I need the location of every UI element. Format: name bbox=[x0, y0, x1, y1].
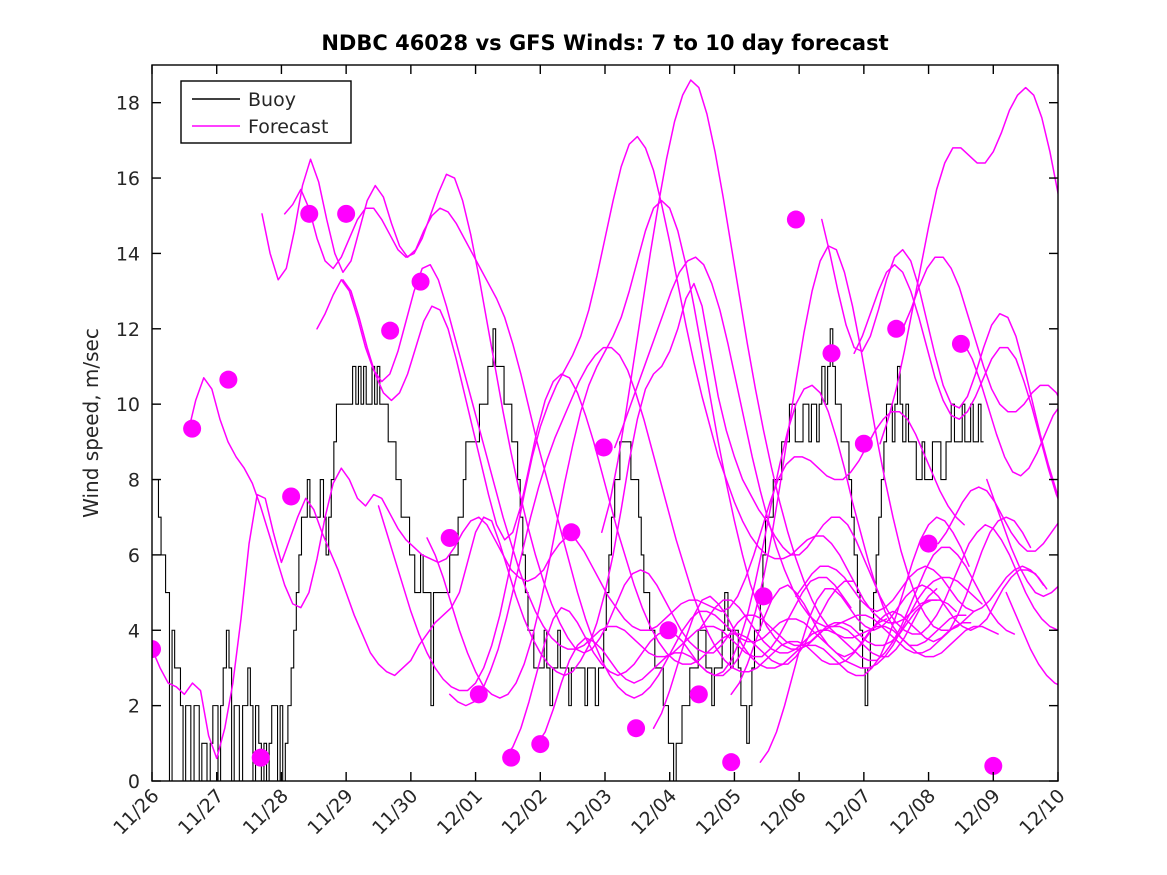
y-tick-label: 16 bbox=[116, 168, 140, 190]
forecast-start-marker bbox=[659, 621, 677, 639]
forecast-start-marker bbox=[412, 273, 430, 291]
y-tick-label: 18 bbox=[116, 93, 140, 115]
forecast-start-marker bbox=[595, 438, 613, 456]
forecast-start-marker bbox=[183, 420, 201, 438]
y-tick-label: 6 bbox=[128, 545, 140, 567]
forecast-start-marker bbox=[282, 487, 300, 505]
forecast-start-marker bbox=[300, 205, 318, 223]
forecast-start-marker bbox=[441, 529, 459, 547]
forecast-start-marker bbox=[787, 211, 805, 229]
forecast-start-marker bbox=[219, 371, 237, 389]
forecast-start-marker bbox=[381, 322, 399, 340]
forecast-start-marker bbox=[531, 735, 549, 753]
y-tick-label: 0 bbox=[128, 771, 140, 793]
forecast-start-marker bbox=[952, 335, 970, 353]
chart-canvas: NDBC 46028 vs GFS Winds: 7 to 10 day for… bbox=[0, 0, 1167, 875]
forecast-start-marker bbox=[252, 749, 270, 767]
y-tick-label: 12 bbox=[116, 319, 140, 341]
forecast-start-marker bbox=[722, 753, 740, 771]
forecast-start-marker bbox=[690, 685, 708, 703]
figure-background bbox=[0, 0, 1167, 875]
y-tick-label: 14 bbox=[116, 243, 140, 265]
forecast-start-marker bbox=[502, 749, 520, 767]
forecast-start-marker bbox=[337, 205, 355, 223]
forecast-start-marker bbox=[920, 535, 938, 553]
forecast-start-marker bbox=[887, 320, 905, 338]
y-tick-label: 4 bbox=[128, 620, 140, 642]
y-tick-label: 2 bbox=[128, 696, 140, 718]
forecast-start-marker bbox=[562, 523, 580, 541]
y-tick-label: 10 bbox=[116, 394, 140, 416]
legend-label-forecast: Forecast bbox=[248, 116, 328, 138]
forecast-start-marker bbox=[470, 685, 488, 703]
legend-label-buoy: Buoy bbox=[248, 89, 296, 111]
forecast-start-marker bbox=[823, 344, 841, 362]
forecast-start-marker bbox=[855, 435, 873, 453]
y-tick-label: 8 bbox=[128, 470, 140, 492]
y-axis-label: Wind speed, m/sec bbox=[79, 328, 103, 518]
chart-title: NDBC 46028 vs GFS Winds: 7 to 10 day for… bbox=[321, 31, 888, 55]
forecast-start-marker bbox=[755, 587, 773, 605]
chart-legend: Buoy Forecast bbox=[181, 81, 351, 143]
forecast-start-marker bbox=[627, 719, 645, 737]
chart-figure: NDBC 46028 vs GFS Winds: 7 to 10 day for… bbox=[0, 0, 1167, 875]
